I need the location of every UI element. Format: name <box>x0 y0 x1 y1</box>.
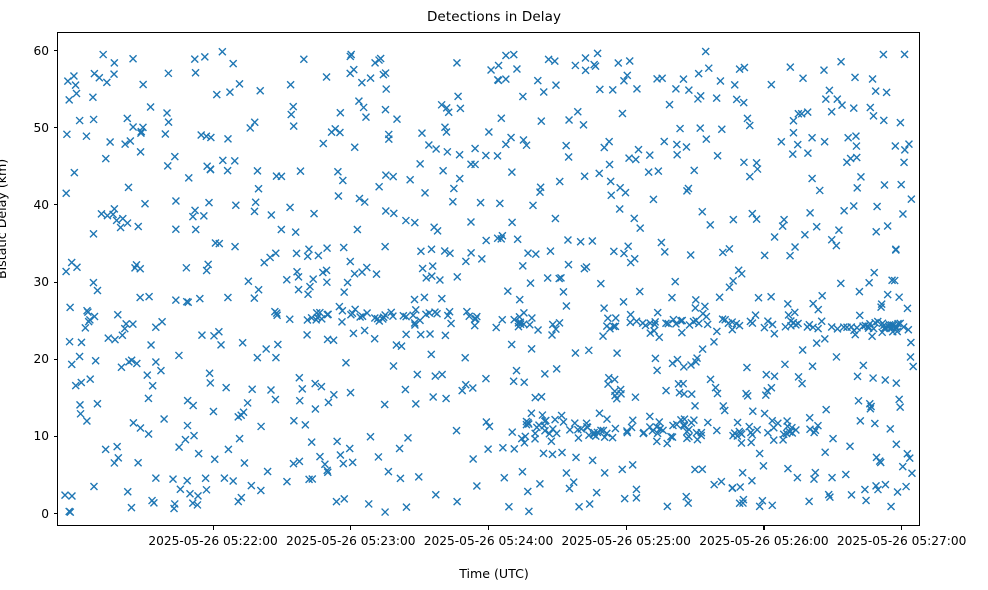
scatter-marker <box>315 252 322 259</box>
scatter-marker <box>111 59 118 66</box>
scatter-marker <box>417 160 424 167</box>
scatter-marker <box>748 439 755 446</box>
scatter-marker <box>881 182 888 189</box>
scatter-marker <box>850 202 857 209</box>
scatter-marker <box>210 408 217 415</box>
scatter-marker <box>206 370 213 377</box>
scatter-marker <box>165 119 172 126</box>
scatter-marker <box>764 318 771 325</box>
scatter-marker <box>427 331 434 338</box>
scatter-marker <box>287 204 294 211</box>
scatter-marker <box>529 202 536 209</box>
scatter-marker <box>296 397 303 404</box>
scatter-marker <box>683 493 690 500</box>
scatter-marker <box>251 295 258 302</box>
scatter-marker <box>548 438 555 445</box>
scatter-marker <box>444 148 451 155</box>
scatter-marker <box>674 356 681 363</box>
scatter-marker <box>870 375 877 382</box>
scatter-marker <box>626 155 633 162</box>
scatter-marker <box>145 431 152 438</box>
scatter-marker <box>225 446 232 453</box>
plot-area <box>57 32 920 526</box>
scatter-marker <box>794 141 801 148</box>
scatter-marker <box>172 297 179 304</box>
scatter-marker <box>428 246 435 253</box>
scatter-marker <box>899 210 906 217</box>
scatter-marker <box>572 349 579 356</box>
scatter-marker <box>804 150 811 157</box>
scatter-marker <box>485 128 492 135</box>
scatter-marker <box>249 386 256 393</box>
scatter-marker <box>646 424 653 431</box>
scatter-marker <box>565 261 572 268</box>
scatter-marker <box>221 475 228 482</box>
scatter-marker <box>404 434 411 441</box>
scatter-marker <box>201 53 208 60</box>
scatter-marker <box>559 449 566 456</box>
scatter-marker <box>604 315 611 322</box>
scatter-marker <box>102 155 109 162</box>
scatter-marker <box>192 69 199 76</box>
scatter-marker <box>336 303 343 310</box>
scatter-marker <box>172 226 179 233</box>
scatter-marker <box>754 166 761 173</box>
scatter-marker <box>396 445 403 452</box>
scatter-marker <box>839 102 846 109</box>
scatter-marker <box>190 402 197 409</box>
scatter-marker <box>532 394 539 401</box>
scatter-marker <box>251 119 258 126</box>
scatter-marker <box>505 503 512 510</box>
scatter-marker <box>324 245 331 252</box>
scatter-marker <box>66 338 73 345</box>
scatter-marker <box>899 463 906 470</box>
scatter-marker <box>267 254 274 261</box>
scatter-marker <box>283 478 290 485</box>
scatter-marker <box>453 59 460 66</box>
scatter-marker <box>646 413 653 420</box>
scatter-marker <box>462 381 469 388</box>
scatter-marker <box>439 371 446 378</box>
scatter-marker <box>632 394 639 401</box>
scatter-marker <box>115 454 122 461</box>
scatter-marker <box>339 307 346 314</box>
scatter-marker <box>236 435 243 442</box>
scatter-marker <box>83 418 90 425</box>
scatter-marker <box>535 327 542 334</box>
scatter-marker <box>596 86 603 93</box>
y-tick-label: 30 <box>11 275 49 289</box>
scatter-marker <box>283 276 290 283</box>
scatter-marker <box>184 422 191 429</box>
scatter-marker <box>540 450 547 457</box>
scatter-marker <box>403 504 410 511</box>
scatter-marker <box>845 134 852 141</box>
scatter-marker <box>218 341 225 348</box>
scatter-marker <box>810 324 817 331</box>
scatter-marker <box>833 242 840 249</box>
y-tick-label: 10 <box>11 429 49 443</box>
scatter-marker <box>818 318 825 325</box>
scatter-marker <box>251 208 258 215</box>
scatter-marker <box>792 243 799 250</box>
scatter-marker <box>519 262 526 269</box>
x-tick-mark <box>213 526 214 530</box>
y-tick-mark <box>54 50 58 51</box>
scatter-marker <box>870 112 877 119</box>
scatter-marker <box>575 435 582 442</box>
scatter-marker <box>527 280 534 287</box>
y-tick-label: 0 <box>11 507 49 521</box>
scatter-marker <box>664 503 671 510</box>
scatter-marker <box>454 498 461 505</box>
scatter-marker <box>89 94 96 101</box>
scatter-marker <box>290 417 297 424</box>
scatter-marker <box>869 333 876 340</box>
scatter-marker <box>102 446 109 453</box>
scatter-marker <box>718 126 725 133</box>
scatter-marker <box>213 91 220 98</box>
scatter-marker <box>202 475 209 482</box>
scatter-marker <box>589 457 596 464</box>
scatter-marker <box>852 74 859 81</box>
scatter-marker <box>707 221 714 228</box>
scatter-marker <box>352 306 359 313</box>
scatter-marker <box>192 226 199 233</box>
scatter-marker <box>893 380 900 387</box>
scatter-marker <box>516 296 523 303</box>
scatter-marker <box>385 131 392 138</box>
x-tick-mark <box>350 526 351 530</box>
scatter-marker <box>372 59 379 66</box>
scatter-marker <box>621 495 628 502</box>
scatter-marker <box>161 415 168 422</box>
scatter-marker <box>117 224 124 231</box>
scatter-marker <box>620 298 627 305</box>
scatter-marker <box>853 143 860 150</box>
scatter-marker <box>63 190 70 197</box>
scatter-marker <box>672 85 679 92</box>
scatter-marker <box>137 265 144 272</box>
scatter-marker <box>92 357 99 364</box>
scatter-marker <box>333 498 340 505</box>
scatter-marker <box>904 305 911 312</box>
scatter-marker <box>68 361 75 368</box>
scatter-marker <box>264 468 271 475</box>
scatter-marker <box>347 70 354 77</box>
scatter-marker <box>438 295 445 302</box>
scatter-marker <box>614 350 621 357</box>
scatter-marker <box>892 247 899 254</box>
scatter-marker <box>425 142 432 149</box>
scatter-marker <box>577 238 584 245</box>
scatter-marker <box>683 144 690 151</box>
scatter-marker <box>552 82 559 89</box>
scatter-marker <box>349 459 356 466</box>
scatter-marker <box>334 438 341 445</box>
scatter-marker <box>137 148 144 155</box>
scatter-marker <box>896 294 903 301</box>
scatter-marker <box>571 420 578 427</box>
scatter-marker <box>806 414 813 421</box>
scatter-marker <box>854 184 861 191</box>
scatter-marker <box>711 481 718 488</box>
scatter-marker <box>552 416 559 423</box>
scatter-marker <box>687 252 694 259</box>
scatter-marker <box>149 382 156 389</box>
scatter-marker <box>496 200 503 207</box>
scatter-marker <box>897 404 904 411</box>
scatter-marker <box>907 339 914 346</box>
scatter-marker <box>513 367 520 374</box>
scatter-marker <box>806 321 813 328</box>
scatter-marker <box>159 318 166 325</box>
scatter-marker <box>753 216 760 223</box>
scatter-marker <box>752 312 759 319</box>
scatter-marker <box>804 109 811 116</box>
scatter-marker <box>861 486 868 493</box>
scatter-marker <box>781 361 788 368</box>
scatter-marker <box>829 474 836 481</box>
scatter-marker <box>856 312 863 319</box>
scatter-marker <box>462 354 469 361</box>
scatter-marker <box>570 479 577 486</box>
scatter-marker <box>699 346 706 353</box>
scatter-marker <box>810 300 817 307</box>
y-tick-mark <box>54 204 58 205</box>
scatter-marker <box>450 185 457 192</box>
scatter-marker <box>514 236 521 243</box>
scatter-marker <box>654 75 661 82</box>
scatter-marker <box>603 416 610 423</box>
x-tick-mark <box>763 526 764 530</box>
scatter-marker <box>432 491 439 498</box>
scatter-marker <box>566 116 573 123</box>
scatter-marker <box>67 304 74 311</box>
scatter-marker <box>278 173 285 180</box>
scatter-marker <box>509 429 516 436</box>
scatter-marker <box>302 421 309 428</box>
scatter-marker <box>502 52 509 59</box>
scatter-marker <box>600 333 607 340</box>
scatter-marker <box>574 108 581 115</box>
scatter-marker <box>72 82 79 89</box>
scatter-marker <box>494 152 501 159</box>
scatter-marker <box>668 294 675 301</box>
scatter-marker <box>633 494 640 501</box>
scatter-marker <box>738 440 745 447</box>
scatter-marker <box>350 330 357 337</box>
scatter-marker <box>311 210 318 217</box>
scatter-marker <box>337 452 344 459</box>
scatter-marker <box>855 397 862 404</box>
scatter-marker <box>339 177 346 184</box>
scatter-marker <box>440 167 447 174</box>
y-tick-label: 50 <box>11 121 49 135</box>
scatter-marker <box>165 70 172 77</box>
scatter-marker <box>135 459 142 466</box>
scatter-marker <box>415 473 422 480</box>
scatter-marker <box>354 226 361 233</box>
scatter-marker <box>105 335 112 342</box>
scatter-marker <box>785 311 792 318</box>
scatter-marker <box>321 461 328 468</box>
scatter-marker <box>779 223 786 230</box>
scatter-marker <box>525 508 532 515</box>
scatter-marker <box>585 347 592 354</box>
scatter-marker <box>754 426 761 433</box>
scatter-marker <box>746 122 753 129</box>
scatter-marker <box>267 387 274 394</box>
scatter-marker <box>454 273 461 280</box>
scatter-marker <box>784 300 791 307</box>
scatter-marker <box>663 387 670 394</box>
scatter-marker <box>685 500 692 507</box>
scatter-marker <box>299 385 306 392</box>
scatter-marker <box>390 363 397 370</box>
scatter-marker <box>94 400 101 407</box>
scatter-marker <box>597 280 604 287</box>
scatter-marker <box>822 96 829 103</box>
scatter-marker <box>360 104 367 111</box>
scatter-marker <box>147 104 154 111</box>
scatter-marker <box>737 483 744 490</box>
scatter-marker <box>152 358 159 365</box>
scatter-marker <box>617 184 624 191</box>
scatter-marker <box>713 427 720 434</box>
x-tick-mark <box>901 526 902 530</box>
scatter-marker <box>869 76 876 83</box>
scatter-marker <box>556 319 563 326</box>
scatter-marker <box>729 485 736 492</box>
scatter-marker <box>124 115 131 122</box>
scatter-marker <box>680 363 687 370</box>
scatter-marker <box>828 108 835 115</box>
scatter-marker <box>328 129 335 136</box>
scatter-marker <box>701 303 708 310</box>
scatter-marker <box>130 55 137 62</box>
scatter-marker <box>735 267 742 274</box>
scatter-marker <box>695 70 702 77</box>
scatter-marker <box>278 226 285 233</box>
scatter-marker <box>519 93 526 100</box>
scatter-marker <box>421 294 428 301</box>
scatter-marker <box>171 500 178 507</box>
scatter-marker <box>761 252 768 259</box>
scatter-marker <box>816 187 823 194</box>
scatter-marker <box>398 343 405 350</box>
scatter-marker <box>589 237 596 244</box>
scatter-marker <box>417 331 424 338</box>
scatter-marker <box>255 185 262 192</box>
scatter-marker <box>499 444 506 451</box>
scatter-marker <box>290 103 297 110</box>
scatter-marker <box>268 211 275 218</box>
scatter-marker <box>510 51 517 58</box>
scatter-marker <box>883 89 890 96</box>
scatter-marker <box>457 105 464 112</box>
scatter-marker <box>419 265 426 272</box>
scatter-marker <box>144 372 151 379</box>
scatter-marker <box>880 51 887 58</box>
scatter-marker <box>821 335 828 342</box>
scatter-marker <box>191 56 198 63</box>
scatter-marker <box>828 236 835 243</box>
scatter-marker <box>347 258 354 265</box>
scatter-marker <box>705 65 712 72</box>
scatter-marker <box>448 320 455 327</box>
scatter-marker <box>135 223 142 230</box>
scatter-marker <box>111 71 118 78</box>
scatter-marker <box>376 183 383 190</box>
scatter-marker <box>640 430 647 437</box>
scatter-marker <box>76 401 83 408</box>
x-tick-label: 2025-05-26 05:22:00 <box>148 534 277 548</box>
scatter-marker <box>205 261 212 268</box>
scatter-marker <box>70 72 77 79</box>
scatter-marker <box>469 385 476 392</box>
scatter-marker <box>146 293 153 300</box>
scatter-marker <box>63 131 70 138</box>
scatter-marker <box>300 56 307 63</box>
scatter-marker <box>871 269 878 276</box>
scatter-marker <box>411 219 418 226</box>
scatter-marker <box>580 121 587 128</box>
scatter-marker <box>232 243 239 250</box>
scatter-marker <box>791 309 798 316</box>
scatter-marker <box>330 391 337 398</box>
scatter-marker <box>809 175 816 182</box>
x-tick-label: 2025-05-26 05:25:00 <box>561 534 690 548</box>
scatter-marker <box>112 336 119 343</box>
scatter-marker <box>768 293 775 300</box>
scatter-marker <box>611 388 618 395</box>
scatter-marker <box>223 384 230 391</box>
scatter-marker <box>606 138 613 145</box>
scatter-marker <box>367 75 374 82</box>
x-tick-mark <box>488 526 489 530</box>
scatter-marker <box>677 125 684 132</box>
scatter-marker <box>601 305 608 312</box>
scatter-marker <box>200 212 207 219</box>
scatter-marker <box>68 492 75 499</box>
scatter-marker <box>508 341 515 348</box>
scatter-marker <box>733 96 740 103</box>
scatter-marker <box>884 223 891 230</box>
scatter-marker <box>219 157 226 164</box>
scatter-marker <box>768 384 775 391</box>
scatter-marker <box>828 324 835 331</box>
scatter-marker <box>472 145 479 152</box>
scatter-marker <box>740 159 747 166</box>
scatter-marker <box>743 364 750 371</box>
scatter-marker <box>674 151 681 158</box>
scatter-marker <box>882 481 889 488</box>
scatter-marker <box>198 332 205 339</box>
scatter-marker <box>756 450 763 457</box>
scatter-marker <box>801 231 808 238</box>
scatter-marker <box>837 280 844 287</box>
scatter-marker <box>245 278 252 285</box>
scatter-marker <box>397 475 404 482</box>
scatter-marker <box>239 339 246 346</box>
scatter-marker <box>467 161 474 168</box>
scatter-marker <box>373 271 380 278</box>
scatter-marker <box>248 482 255 489</box>
y-tick-mark <box>54 513 58 514</box>
scatter-marker <box>430 394 437 401</box>
